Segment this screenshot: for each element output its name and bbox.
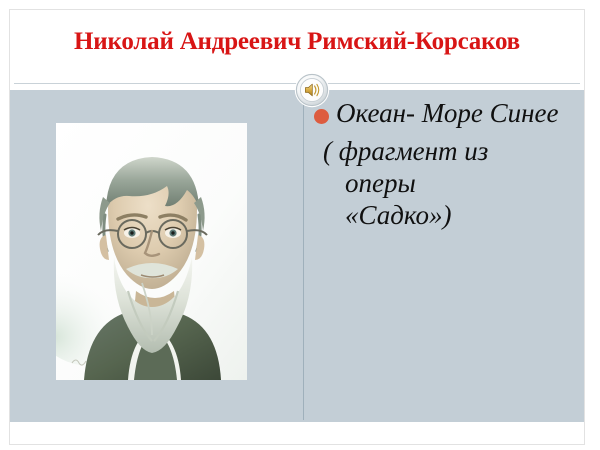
note-line-3: «Садко») <box>324 200 582 232</box>
slide-title: Николай Андреевич Римский-Корсаков <box>10 28 584 56</box>
note-line-2: оперы <box>324 168 582 200</box>
note-line-1: ( фрагмент из <box>323 136 488 166</box>
slide-root: Николай Андреевич Римский-Корсаков <box>0 0 600 450</box>
bullet-dot-icon <box>314 109 329 124</box>
speaker-icon[interactable] <box>294 72 330 108</box>
presentation-slide: Николай Андреевич Римский-Корсаков <box>10 10 584 444</box>
column-divider <box>303 92 304 420</box>
bullet-line-2: Синее <box>490 98 559 128</box>
portrait-image <box>56 123 247 380</box>
note-item-source: ( фрагмент из оперы «Садко») <box>310 136 582 232</box>
slide-body: Океан- Море Синее ( фрагмент из оперы «С… <box>10 90 584 422</box>
text-content-column: Океан- Море Синее ( фрагмент из оперы «С… <box>310 98 582 418</box>
bullet-item-work-title: Океан- Море Синее <box>310 98 582 130</box>
bullet-line-1: Океан- Море <box>336 98 483 128</box>
